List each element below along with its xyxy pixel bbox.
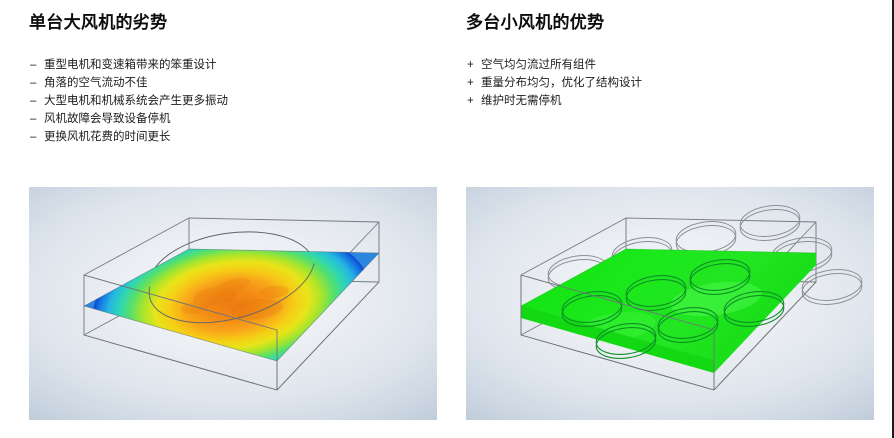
list-item-label: 大型电机和机械系统会产生更多振动 (44, 92, 228, 110)
bullet-marker-icon: – (30, 56, 44, 74)
list-item: – 大型电机和机械系统会产生更多振动 (30, 92, 228, 110)
bullet-marker-icon: + (467, 92, 481, 110)
bullet-marker-icon: – (30, 92, 44, 110)
bullet-marker-icon: – (30, 110, 44, 128)
fan-ring (800, 266, 864, 308)
bullet-list-right: + 空气均匀流过所有组件 + 重量分布均匀，优化了结构设计 + 维护时无需停机 (467, 56, 642, 110)
slide-root: 单台大风机的劣势 – 重型电机和变速箱带来的笨重设计 – 角落的空气流动不佳 –… (0, 0, 892, 438)
list-item-label: 更换风机花费的时间更长 (44, 128, 171, 146)
page-title-right: 多台小风机的优势 (466, 11, 604, 35)
list-item: + 空气均匀流过所有组件 (467, 56, 642, 74)
bullet-marker-icon: – (30, 74, 44, 92)
list-item: + 维护时无需停机 (467, 92, 642, 110)
figure-cfd-single-fan (29, 187, 437, 420)
fan-ring (738, 202, 802, 244)
list-item: – 更换风机花费的时间更长 (30, 128, 228, 146)
bullet-marker-icon: + (467, 56, 481, 74)
list-item-label: 风机故障会导致设备停机 (44, 110, 171, 128)
bullet-list-left: – 重型电机和变速箱带来的笨重设计 – 角落的空气流动不佳 – 大型电机和机械系… (30, 56, 228, 146)
list-item-label: 空气均匀流过所有组件 (481, 56, 596, 74)
page-title-left: 单台大风机的劣势 (29, 11, 167, 35)
list-item: – 角落的空气流动不佳 (30, 74, 228, 92)
list-item-label: 维护时无需停机 (481, 92, 562, 110)
bullet-marker-icon: – (30, 128, 44, 146)
cfd-single-fan-svg (29, 187, 437, 420)
list-item-label: 重型电机和变速箱带来的笨重设计 (44, 56, 217, 74)
list-item: – 风机故障会导致设备停机 (30, 110, 228, 128)
bullet-marker-icon: + (467, 74, 481, 92)
list-item: – 重型电机和变速箱带来的笨重设计 (30, 56, 228, 74)
list-item-label: 角落的空气流动不佳 (44, 74, 148, 92)
list-item: + 重量分布均匀，优化了结构设计 (467, 74, 642, 92)
cfd-contour-slice (84, 211, 381, 400)
list-item-label: 重量分布均匀，优化了结构设计 (481, 74, 642, 92)
figure-cfd-multi-fan (466, 187, 874, 420)
cfd-multi-fan-svg (466, 187, 874, 420)
